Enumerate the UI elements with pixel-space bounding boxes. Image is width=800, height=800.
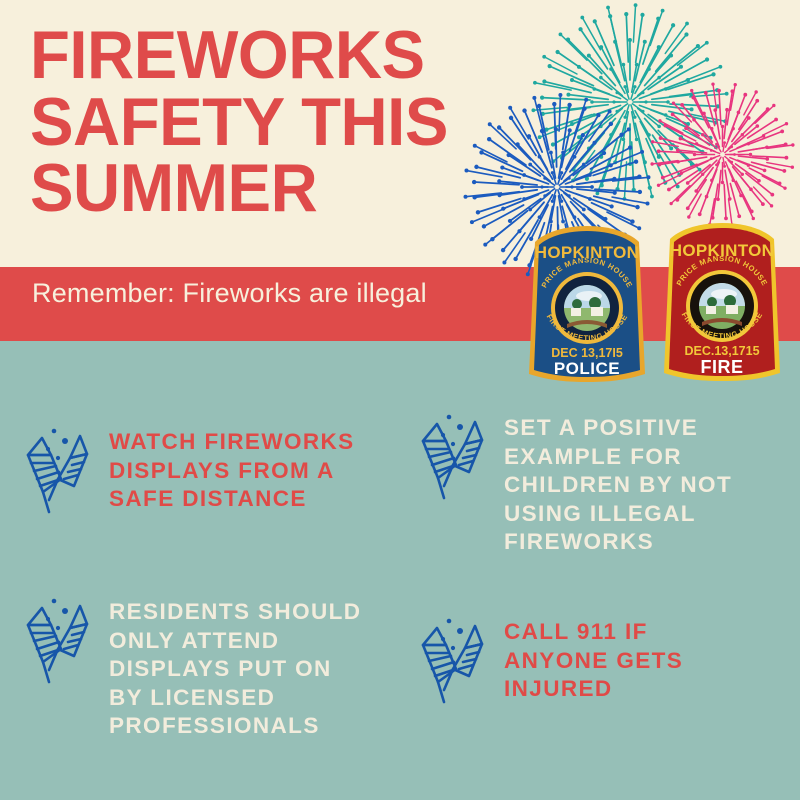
badge-date-label: DEC 13,17I5 [551, 346, 623, 360]
badge-seal-tree [707, 297, 717, 307]
tip-call-911: CALL 911 IF ANYONE GETS INJURED [413, 608, 793, 704]
firecrackers-icon [18, 422, 100, 514]
tip-text: SET A POSITIVE EXAMPLE FOR CHILDREN BY N… [495, 404, 732, 557]
badge-seal-house [591, 307, 603, 316]
tip-watch-from-safe-distance: WATCH FIREWORKS DISPLAYS FROM A SAFE DIS… [18, 418, 388, 514]
badge-seal-house [706, 306, 716, 314]
firecrackers-icon [18, 592, 100, 684]
fireworks-safety-poster: FIREWORKS SAFETY THIS SUMMER Remember: F… [0, 0, 800, 800]
hopkinton-fire-badge: HOPKINTON PRICE MANSION HOUSE FIRST MEET… [661, 221, 783, 388]
firework-burst-pink-icon [650, 82, 795, 232]
badge-seal-tree [572, 299, 582, 309]
tip-text: CALL 911 IF ANYONE GETS INJURED [495, 608, 683, 704]
badge-seal-house [726, 305, 738, 314]
tip-licensed-professionals: RESIDENTS SHOULD ONLY ATTEND DISPLAYS PU… [18, 588, 390, 741]
tip-text: WATCH FIREWORKS DISPLAYS FROM A SAFE DIS… [100, 418, 355, 514]
firecrackers-icon [413, 612, 495, 704]
hopkinton-police-badge: HOPKINTON PRICE MANSION HOUSE FIRST MEET… [527, 224, 647, 389]
badge-department-label: POLICE [554, 359, 620, 378]
badge-seal-house [571, 308, 581, 316]
badge-department-label: FIRE [700, 357, 743, 377]
badge-date-label: DEC.13,1715 [684, 344, 759, 358]
poster-headline: FIREWORKS SAFETY THIS SUMMER [30, 22, 481, 222]
tip-text: RESIDENTS SHOULD ONLY ATTEND DISPLAYS PU… [100, 588, 361, 741]
firecrackers-icon [413, 408, 495, 500]
poster-subtitle: Remember: Fireworks are illegal [32, 278, 427, 309]
tip-set-positive-example: SET A POSITIVE EXAMPLE FOR CHILDREN BY N… [413, 404, 793, 557]
